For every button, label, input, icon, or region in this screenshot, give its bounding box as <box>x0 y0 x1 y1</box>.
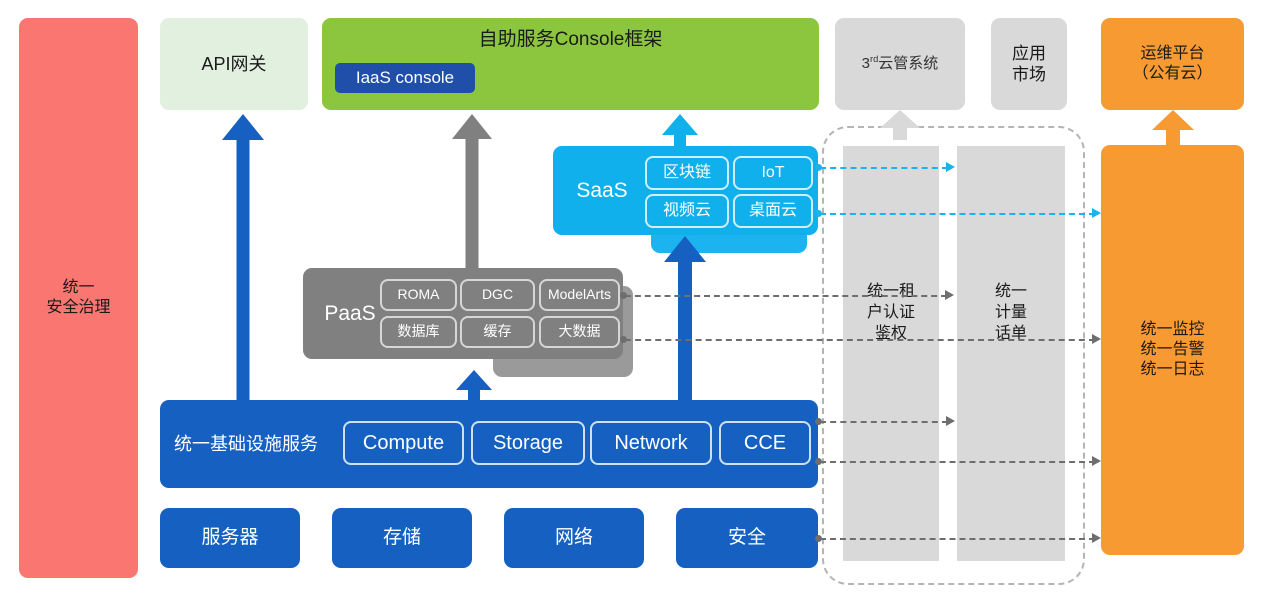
paas-item-dgc[interactable]: DGC <box>460 279 535 311</box>
arrowhead-hardware-to-ops <box>1092 533 1101 543</box>
ops-platform-label-line2: （公有云） <box>1132 64 1212 84</box>
hardware-item-network[interactable]: 网络 <box>504 508 644 568</box>
arrowhead-saas-to-ops <box>1092 208 1101 218</box>
unified-tenant-auth-label: 统一租 户认证 鉴权 <box>843 282 939 344</box>
saas-layer-label: SaaS <box>563 177 641 203</box>
auth-line3: 鉴权 <box>843 324 939 345</box>
arrowhead-infra-to-ops <box>1092 456 1101 466</box>
arrow-paas-to-console <box>452 114 492 270</box>
saas-layer-block[interactable]: SaaS 区块链 IoT 视频云 桌面云 <box>553 146 818 235</box>
saas-item-desktop-cloud[interactable]: 桌面云 <box>733 194 813 228</box>
hardware-item-storage[interactable]: 存储 <box>332 508 472 568</box>
connector-saas-to-auth <box>820 167 948 169</box>
api-gateway-label: API网关 <box>201 53 266 76</box>
infra-item-compute[interactable]: Compute <box>343 421 464 465</box>
arrow-ops-column-to-ops-platform <box>1152 110 1194 148</box>
arrow-shared-to-third-cloud <box>880 110 920 140</box>
auth-line2: 户认证 <box>843 303 939 324</box>
unified-infrastructure-services-block[interactable]: 统一基础设施服务 Compute Storage Network CCE <box>160 400 818 488</box>
arrow-infra-to-saas <box>664 236 706 402</box>
saas-item-video-cloud[interactable]: 视频云 <box>645 194 729 228</box>
governance-label-line1: 统一 <box>46 278 110 298</box>
third-party-cloud-management-block[interactable]: 3rd云管系统 <box>835 18 965 110</box>
arrowhead-paas-to-ops <box>1092 334 1101 344</box>
paas-item-modelarts[interactable]: ModelArts <box>539 279 620 311</box>
infra-item-cce[interactable]: CCE <box>719 421 811 465</box>
metering-line1: 统一 <box>957 282 1065 303</box>
paas-layer-label: PaaS <box>311 300 389 326</box>
paas-item-database[interactable]: 数据库 <box>380 316 457 348</box>
infra-item-storage[interactable]: Storage <box>471 421 585 465</box>
app-market-label-line1: 应用 <box>1012 43 1046 64</box>
application-market-block[interactable]: 应用 市场 <box>991 18 1067 110</box>
console-framework-title: 自助服务Console框架 <box>322 28 819 52</box>
hardware-item-server[interactable]: 服务器 <box>160 508 300 568</box>
metering-line3: 话单 <box>957 324 1065 345</box>
arrowhead-saas-to-auth <box>946 162 955 172</box>
saas-item-blockchain[interactable]: 区块链 <box>645 156 729 190</box>
paas-layer-block[interactable]: PaaS ROMA DGC ModelArts 数据库 缓存 大数据 <box>303 268 623 359</box>
unified-monitoring-column[interactable]: 统一监控 统一告警 统一日志 <box>1101 145 1244 555</box>
ops-platform-label-line1: 运维平台 <box>1132 44 1212 64</box>
unified-metering-label: 统一 计量 话单 <box>957 282 1065 344</box>
connector-paas-to-ops <box>625 339 1095 341</box>
ops-column-line1: 统一监控 <box>1140 320 1204 340</box>
connector-infra-to-auth <box>820 421 948 423</box>
unified-tenant-auth-column[interactable] <box>843 146 939 561</box>
infra-item-network[interactable]: Network <box>590 421 712 465</box>
arrow-infra-to-paas <box>456 370 492 402</box>
connector-saas-to-ops <box>820 213 1095 215</box>
auth-line1: 统一租 <box>843 282 939 303</box>
ops-column-line2: 统一告警 <box>1140 340 1204 360</box>
connector-infra-to-ops <box>820 461 1095 463</box>
app-market-label-line2: 市场 <box>1012 64 1046 85</box>
paas-item-bigdata[interactable]: 大数据 <box>539 316 620 348</box>
infrastructure-label: 统一基础设施服务 <box>174 433 318 456</box>
arrowhead-infra-to-auth <box>946 416 955 426</box>
third-cloud-label: 3rd云管系统 <box>862 54 939 74</box>
metering-line2: 计量 <box>957 303 1065 324</box>
ops-platform-public-cloud-block[interactable]: 运维平台 （公有云） <box>1101 18 1244 110</box>
connector-paas-to-auth <box>625 295 947 297</box>
arrowhead-paas-to-auth <box>945 290 954 300</box>
unified-security-governance-block[interactable]: 统一 安全治理 <box>19 18 138 578</box>
iaas-console-pill[interactable]: IaaS console <box>335 63 475 93</box>
unified-metering-column[interactable] <box>957 146 1065 561</box>
arrow-saas-to-console <box>662 114 698 148</box>
arrow-infra-to-api-gateway <box>222 114 264 402</box>
governance-label-line2: 安全治理 <box>46 298 110 318</box>
self-service-console-framework-block[interactable]: 自助服务Console框架 IaaS console PaaS console … <box>322 18 819 110</box>
saas-item-iot[interactable]: IoT <box>733 156 813 190</box>
architecture-diagram: 统一 安全治理 API网关 自助服务Console框架 IaaS console… <box>0 0 1265 605</box>
api-gateway-block[interactable]: API网关 <box>160 18 308 110</box>
ops-column-line3: 统一日志 <box>1140 360 1204 380</box>
paas-item-roma[interactable]: ROMA <box>380 279 457 311</box>
hardware-item-security[interactable]: 安全 <box>676 508 818 568</box>
connector-hardware-to-ops <box>820 538 1095 540</box>
paas-item-cache[interactable]: 缓存 <box>460 316 535 348</box>
